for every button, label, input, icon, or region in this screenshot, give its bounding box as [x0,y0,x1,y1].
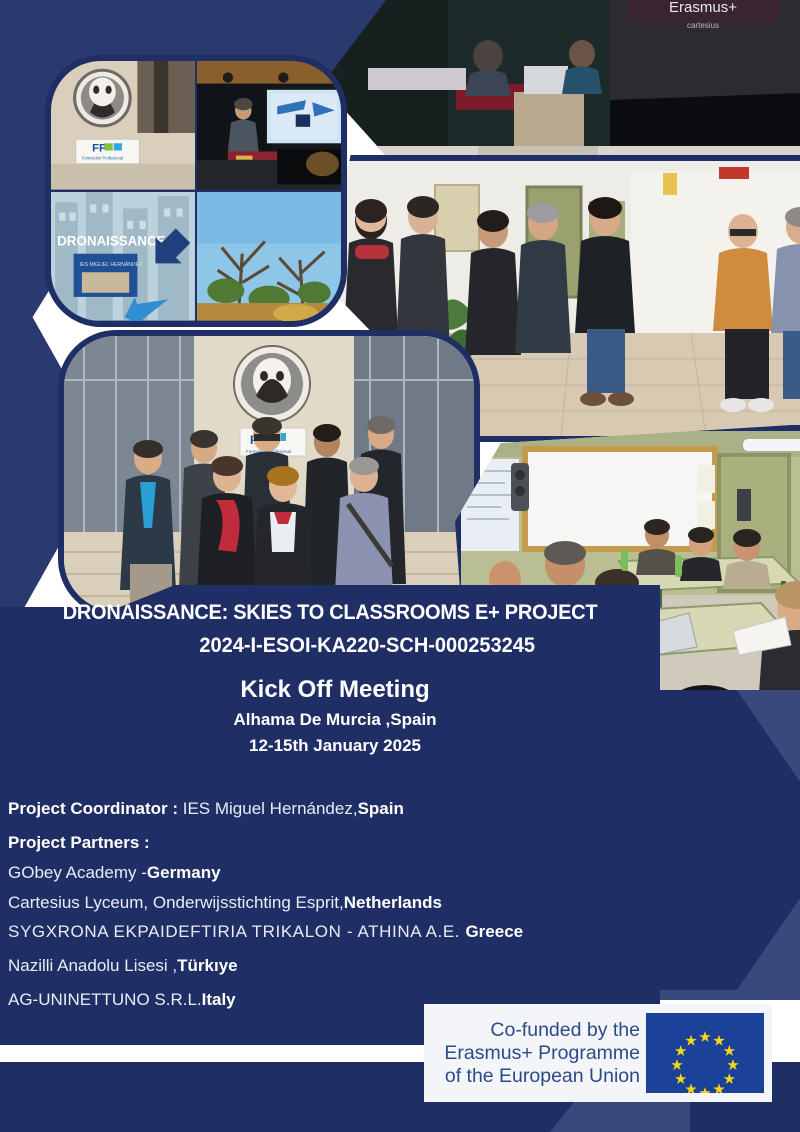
coordinator-country: Spain [358,799,404,818]
eu-logo-text: Co-funded by the Erasmus+ Programme of t… [444,1019,646,1088]
eu-cofunding-logo: Co-funded by the Erasmus+ Programme of t… [424,1004,772,1102]
partner-org-turkiye: Nazilli Anadolu Lisesi , [8,956,177,975]
photo-collage-group: FP Formación Profesional SECCIÓN 2 [45,55,347,327]
partner-country-turkiye: Türkıye [177,956,237,975]
photo-auditorium-presentation [197,61,341,190]
photo-group-entrance-art: FP Formación Profesional [64,336,474,611]
partners-label-row: Project Partners : [8,834,648,852]
partner-country-greece: Greece [465,922,523,941]
coordinator-label: Project Coordinator : [8,799,178,818]
eu-logo-line3: of the European Union [444,1065,640,1088]
partners-label: Project Partners : [8,833,150,852]
svg-text:Formación Profesional: Formación Profesional [82,156,123,161]
event-name: Kick Off Meeting [0,676,660,704]
partner-row-germany: GObey Academy -Germany [8,864,648,882]
svg-text:Erasmus+: Erasmus+ [669,0,737,16]
photo-podium-erasmus-screen-art: Erasmus+ cartesius [328,0,800,181]
partner-org-germany: GObey Academy - [8,863,147,882]
event-location: Alhama De Murcia ,Spain [0,710,660,730]
project-title: DRONAISSANCE: SKIES TO CLASSROOMS E+ PRO… [23,600,637,625]
event-dates: 12-15th January 2025 [0,736,660,756]
partner-country-netherlands: Netherlands [344,893,442,912]
poster-canvas: Erasmus+ cartesius [0,0,800,1132]
partners-block: Project Coordinator : IES Miguel Hernánd… [8,800,648,1025]
partner-org-italy: AG-UNINETTUNO S.R.L. [8,990,202,1009]
photo-group-entrance: FP Formación Profesional [58,330,480,617]
svg-text:DRONAISSANCE: DRONAISSANCE [57,233,165,248]
eu-logo-line2: Erasmus+ Programme [444,1042,640,1065]
eu-flag-icon [646,1013,764,1093]
photo-outdoor-trees [197,192,341,321]
coordinator-row: Project Coordinator : IES Miguel Hernánd… [8,800,648,818]
partner-country-germany: Germany [147,863,221,882]
coordinator-org: IES Miguel Hernández, [183,799,358,818]
partner-org-greece: SYGXRONA EKPAIDEFTIRIA TRIKALON - ATHINA… [8,922,465,941]
eu-stars-icon [646,1013,764,1093]
svg-text:cartesius: cartesius [687,21,719,30]
photo-dronaissance-banner: DRONAISSANCE IES MIGUEL HERNÁNDEZ [51,192,195,321]
eu-logo-line1: Co-funded by the [444,1019,640,1042]
partner-org-netherlands: Cartesius Lyceum, Onderwijsstichting Esp… [8,893,344,912]
project-code: 2024-I-ESOI-KA220-SCH-000253245 [23,633,637,658]
partner-country-italy: Italy [202,990,236,1009]
photo-school-entrance-emblem: FP Formación Profesional SECCIÓN 2 [51,61,195,190]
partner-row-netherlands: Cartesius Lyceum, Onderwijsstichting Esp… [8,894,648,912]
partner-row-greece: SYGXRONA EKPAIDEFTIRIA TRIKALON - ATHINA… [8,923,648,941]
svg-text:IES MIGUEL HERNÁNDEZ: IES MIGUEL HERNÁNDEZ [80,261,142,268]
title-block: DRONAISSANCE: SKIES TO CLASSROOMS E+ PRO… [0,600,660,756]
partner-row-turkiye: Nazilli Anadolu Lisesi ,Türkıye [8,957,648,975]
